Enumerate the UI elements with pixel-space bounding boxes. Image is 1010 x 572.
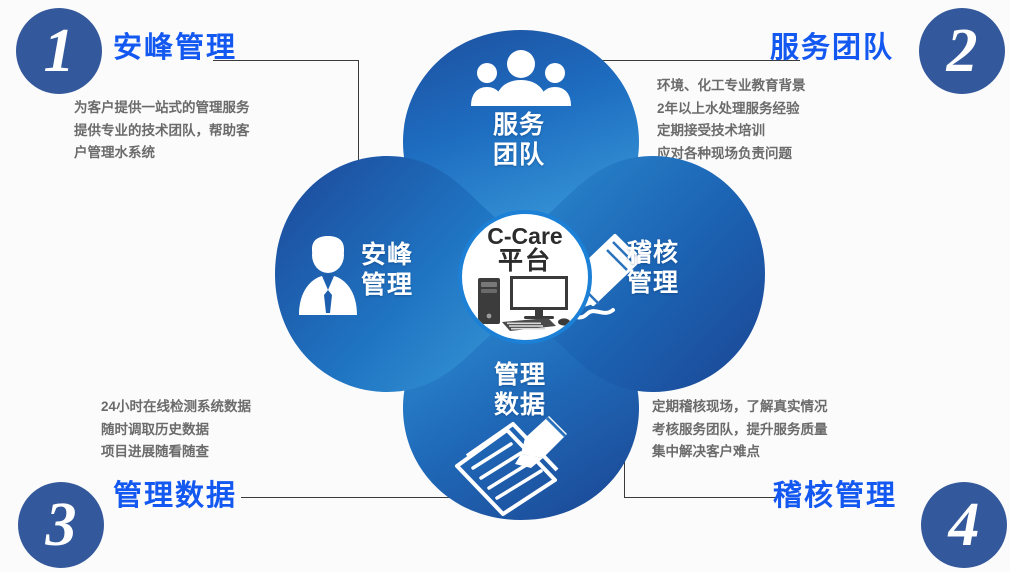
quadrant-body-1: 为客户提供一站式的管理服务 提供专业的技术团队，帮助客 户管理水系统 <box>74 97 250 165</box>
center-hub-text: C-Care 平台 <box>462 224 588 274</box>
center-hub-line1: C-Care <box>462 224 588 248</box>
center-hub: C-Care 平台 <box>458 210 592 344</box>
quadrant-title-3: 管理数据 <box>113 472 237 514</box>
quadrant-body-line: 24小时在线检测系统数据 <box>101 396 251 419</box>
badge-number-2: 2 <box>919 8 1005 94</box>
quadrant-body-3: 24小时在线检测系统数据 随时调取历史数据 项目进展随看随查 <box>101 396 251 464</box>
badge-number-1: 1 <box>16 8 102 94</box>
quadrant-body-line: 为客户提供一站式的管理服务 <box>74 97 250 120</box>
quadrant-title-4: 稽核管理 <box>773 472 897 514</box>
quadrant-title-2: 服务团队 <box>770 24 894 66</box>
quadrant-body-line: 随时调取历史数据 <box>101 419 251 442</box>
quadrant-body-line: 项目进展随看随查 <box>101 441 251 464</box>
quadrant-body-line: 提供专业的技术团队，帮助客 <box>74 120 250 143</box>
badge-number-3: 3 <box>18 482 104 568</box>
center-hub-line2: 平台 <box>462 248 588 274</box>
infographic-canvas: 1 2 3 4 安峰管理 服务团队 管理数据 稽核管理 为客户提供一站式的管理服… <box>0 0 1010 572</box>
quadrant-title-1: 安峰管理 <box>113 24 237 66</box>
petal-diagram: 服务 团队 安峰 管理 稽核 管理 管理 数据 C-Care 平台 <box>255 10 785 540</box>
quadrant-body-line: 户管理水系统 <box>74 142 250 165</box>
badge-number-4: 4 <box>921 482 1007 568</box>
desktop-computer-icon <box>476 274 574 334</box>
